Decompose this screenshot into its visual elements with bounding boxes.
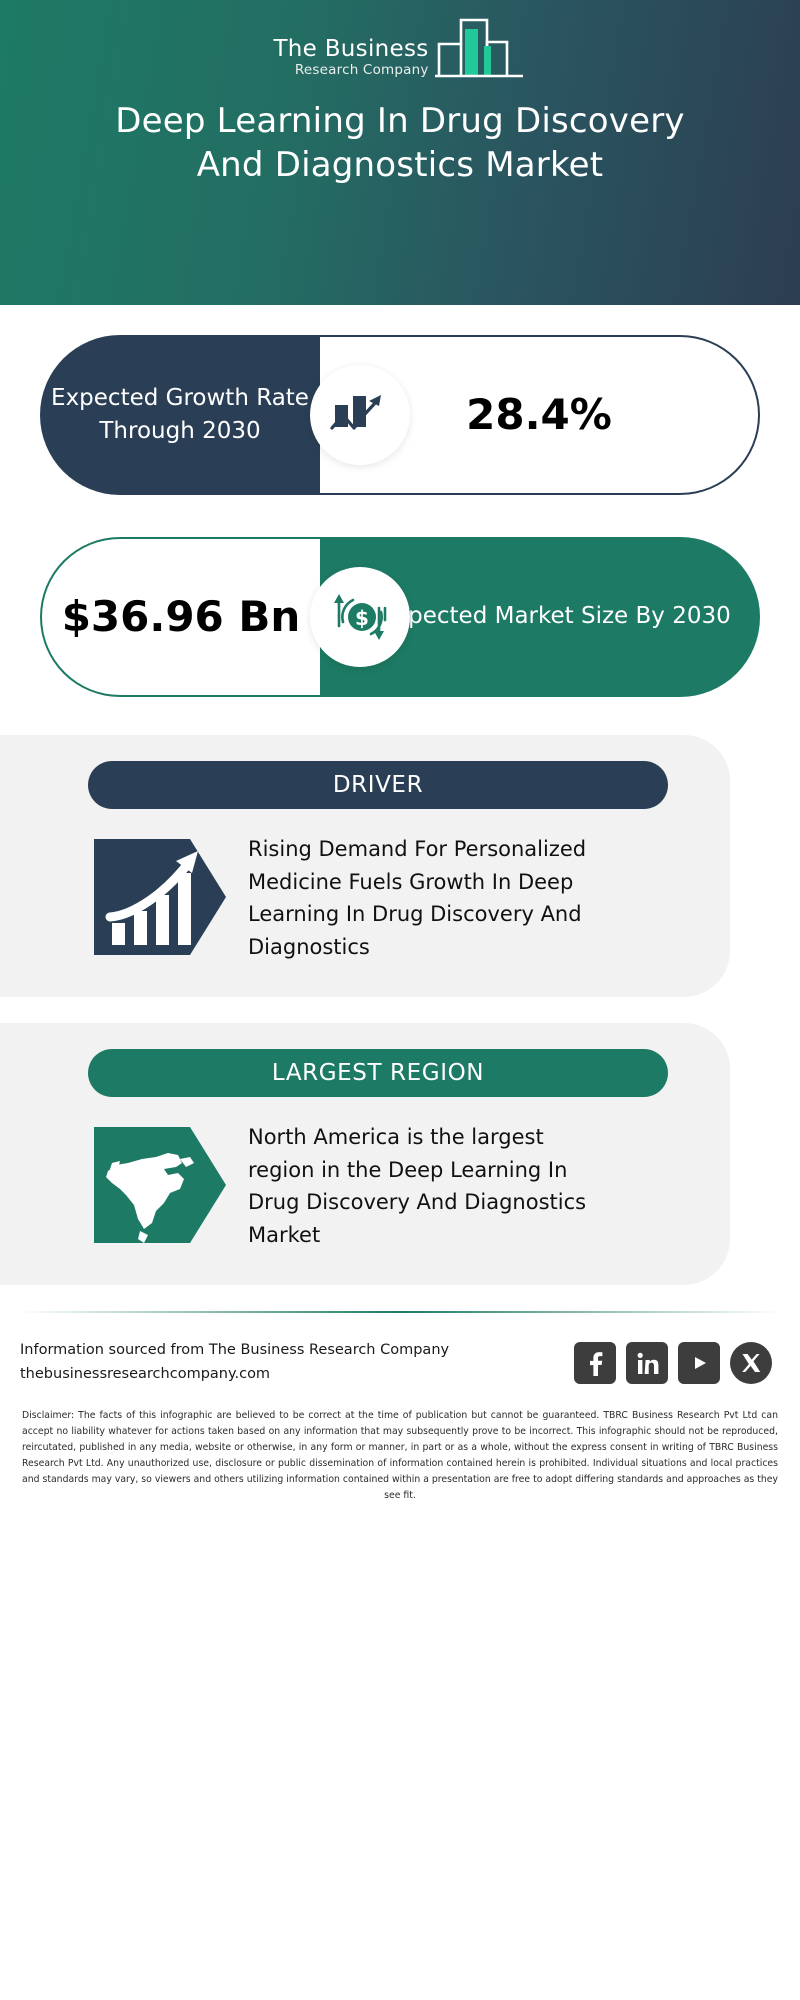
company-logo: The Business Research Company (273, 18, 526, 86)
panel-driver: DRIVER Rising Demand For Personalized Me… (0, 735, 730, 997)
largest-region-body: North America is the largest region in t… (0, 1119, 690, 1251)
page-title: Deep Learning In Drug Discovery And Diag… (90, 100, 710, 187)
source-line-2[interactable]: thebusinessresearchcompany.com (20, 1363, 449, 1386)
x-twitter-icon[interactable] (730, 1342, 772, 1384)
growth-chart-icon (329, 387, 391, 443)
social-links (574, 1342, 772, 1384)
logo-wordmark: The Business Research Company (273, 37, 428, 86)
driver-text: Rising Demand For Personalized Medicine … (248, 831, 598, 963)
bar-growth-arrow-icon (94, 831, 226, 963)
north-america-map-icon (94, 1119, 226, 1251)
driver-badge: DRIVER (88, 761, 668, 809)
logo-bar-chart-icon (431, 16, 527, 82)
market-size-value-half: $36.96 Bn (40, 537, 320, 697)
footer: Information sourced from The Business Re… (0, 1313, 800, 1385)
growth-rate-icon-bubble (310, 365, 410, 465)
market-size-label: Expected Market Size By 2030 (380, 600, 731, 633)
header-banner: The Business Research Company Deep Learn… (0, 0, 800, 305)
facebook-icon[interactable] (574, 1342, 616, 1384)
source-line-1: Information sourced from The Business Re… (20, 1339, 449, 1362)
youtube-icon[interactable] (678, 1342, 720, 1384)
logo-line-2: Research Company (295, 62, 429, 78)
driver-body: Rising Demand For Personalized Medicine … (0, 831, 690, 963)
logo-line-1: The Business (273, 37, 428, 61)
money-cycle-icon: $ (329, 586, 391, 648)
growth-rate-label: Expected Growth Rate Through 2030 (40, 382, 320, 449)
disclaimer-text: Disclaimer: The facts of this infographi… (22, 1408, 778, 1504)
stat-card-growth-rate: Expected Growth Rate Through 2030 28.4% (0, 323, 800, 503)
panel-largest-region: LARGEST REGION North America is the larg… (0, 1023, 730, 1285)
linkedin-icon[interactable] (626, 1342, 668, 1384)
infographic-page: The Business Research Company Deep Learn… (0, 0, 800, 2000)
largest-region-text: North America is the largest region in t… (248, 1119, 598, 1251)
growth-rate-value: 28.4% (466, 391, 612, 438)
svg-text:$: $ (355, 606, 369, 630)
largest-region-badge: LARGEST REGION (88, 1049, 668, 1097)
market-size-value: $36.96 Bn (62, 593, 301, 640)
stat-card-market-size: $36.96 Bn Expected Market Size By 2030 $ (0, 525, 800, 705)
growth-rate-label-half: Expected Growth Rate Through 2030 (40, 335, 320, 495)
market-size-icon-bubble: $ (310, 567, 410, 667)
source-attribution: Information sourced from The Business Re… (20, 1339, 449, 1385)
stats-section: Expected Growth Rate Through 2030 28.4% … (0, 305, 800, 735)
